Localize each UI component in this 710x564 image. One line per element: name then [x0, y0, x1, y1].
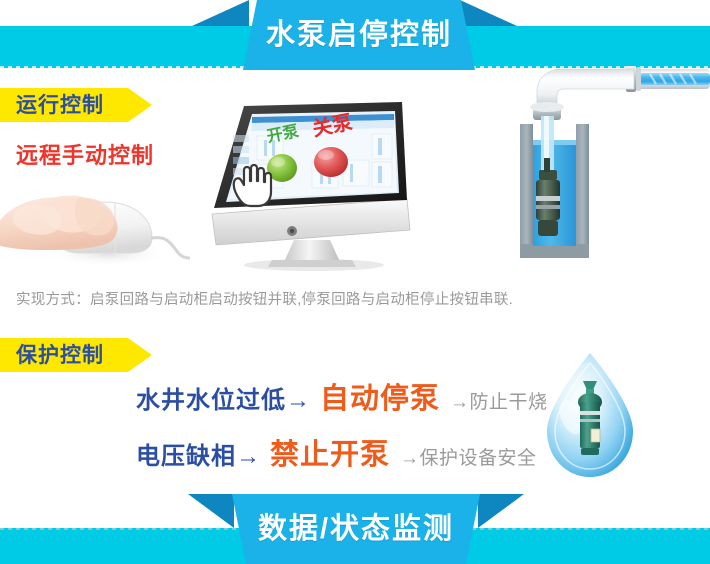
tag-protection-control-label: 保护控制	[16, 345, 104, 366]
well-water-surface	[533, 140, 576, 145]
pump-riser-stub	[544, 158, 550, 172]
well-pump-svg	[492, 58, 710, 280]
bottom-ribbon-center: 数据/状态监测	[232, 494, 480, 564]
pump-base	[538, 220, 558, 236]
protection-rule-condition: 电压缺相→	[136, 436, 261, 471]
monitor-power-button-inner	[290, 229, 294, 233]
protection-rule-row: 水井水位过低→ 自动停泵 →防止干烧	[136, 375, 548, 417]
hand-mouse-svg	[0, 150, 190, 270]
well-floor	[520, 244, 589, 258]
well-wall-left	[520, 124, 533, 258]
droplet-pump-band-1	[580, 411, 600, 415]
hand-on-mouse-illustration	[0, 150, 190, 270]
bottom-ribbon-fold-left	[188, 494, 234, 528]
protection-rule-row: 电压缺相→ 禁止开泵 →保护设备安全	[136, 431, 537, 473]
desktop-monitor-illustration: 开泵 关泵	[202, 100, 447, 272]
water-droplet-pump-icon	[527, 345, 653, 493]
bottom-ribbon-title: 数据/状态监测	[258, 515, 454, 544]
protection-rule-result: →保护设备安全	[400, 443, 537, 470]
droplet-svg	[527, 345, 653, 493]
bottom-ribbon-fold-right	[478, 494, 524, 528]
top-ribbon-fold-right	[460, 0, 517, 26]
monitor-svg: 开泵 关泵	[202, 100, 447, 272]
implementation-note: 实现方式：启泵回路与启动柜启动按钮并联,停泵回路与启动柜停止按钮串联.	[16, 288, 694, 309]
start-button-highlight	[271, 157, 285, 167]
droplet-pump-base	[581, 448, 599, 455]
top-ribbon-title: 水泵启停控制	[266, 21, 452, 50]
protection-rule-action: 自动停泵	[320, 375, 440, 417]
bottom-ribbon-banner: 数据/状态监测	[0, 494, 710, 564]
tag-protection-control: 保护控制	[0, 338, 152, 372]
tag-run-control-label: 运行控制	[16, 95, 104, 116]
outlet-pipe-flange-2	[636, 67, 641, 91]
protection-rule-action: 禁止开泵	[270, 431, 390, 473]
stop-button-highlight	[318, 150, 334, 160]
well-pump-diagram	[492, 58, 710, 280]
page-root: 水泵启停控制 运行控制 远程手动控制	[0, 0, 710, 564]
monitor-stand-base	[268, 260, 356, 267]
protection-rule-condition: 水井水位过低→	[136, 380, 311, 415]
pump-band-1	[536, 196, 560, 201]
top-ribbon-center: 水泵启停控制	[243, 0, 475, 70]
pump-band-2	[536, 205, 560, 209]
riser-flange-top	[530, 102, 564, 112]
monitor-stand-neck	[284, 240, 340, 262]
droplet-pump-nameplate	[591, 429, 600, 442]
top-ribbon-fold-left	[192, 0, 249, 26]
tag-run-control: 运行控制	[0, 88, 152, 122]
well-wall-right	[576, 124, 589, 258]
droplet-pump-band-2	[580, 419, 600, 422]
